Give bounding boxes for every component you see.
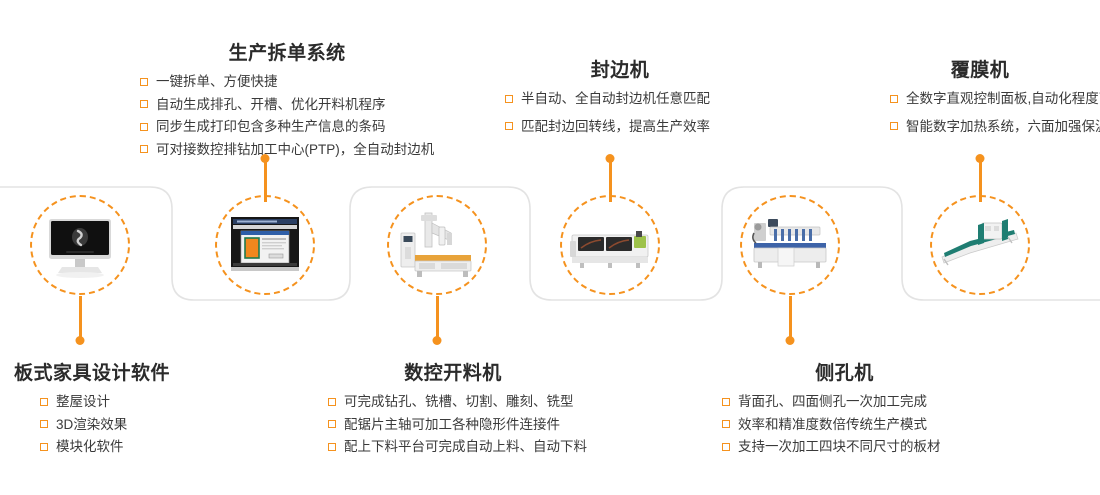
list-item-label: 支持一次加工四块不同尺寸的板材 [738,440,941,454]
cad-software-screen-icon [223,203,307,287]
section-title: 板式家具设计软件 [14,358,170,385]
list-item: 背面孔、四面侧孔一次加工完成 [722,395,967,409]
list-item: 效率和精准度数倍传统生产模式 [722,418,967,432]
list-item: 智能数字加热系统，六面加强保温 [890,120,1100,134]
list-item-label: 可对接数控排钻加工中心(PTP)，全自动封边机 [156,143,434,157]
section-design-software: 板式家具设计软件 整屋设计 3D渲染效果 模块化软件 [14,358,170,463]
connector-dot [433,336,442,345]
checkbox-icon [140,100,148,108]
list-item: 可完成钻孔、铣槽、切割、雕刻、铣型 [328,395,587,409]
list-item: 自动生成排孔、开槽、优化开料机程序 [140,98,434,112]
list-item-label: 模块化软件 [56,440,124,454]
cnc-router-icon [395,203,479,287]
checkbox-icon [328,398,336,406]
feature-list: 整屋设计 3D渲染效果 模块化软件 [14,395,170,454]
list-item-label: 同步生成打印包含多种生产信息的条码 [156,120,386,134]
checkbox-icon [722,443,730,451]
checkbox-icon [890,95,898,103]
list-item: 一键拆单、方便快捷 [140,75,434,89]
list-item: 匹配封边回转线，提高生产效率 [505,120,735,134]
feature-list: 可完成钻孔、铣槽、切割、雕刻、铣型 配锯片主轴可加工各种隐形件连接件 配上下料平… [328,395,587,454]
checkbox-icon [505,95,513,103]
list-item-label: 自动生成排孔、开槽、优化开料机程序 [156,98,386,112]
feature-list: 全数字直观控制面板,自动化程度高 智能数字加热系统，六面加强保温 [890,92,1100,133]
section-laminating-machine: 覆膜机 全数字直观控制面板,自动化程度高 智能数字加热系统，六面加强保温 [890,55,1100,147]
section-edge-banding-machine: 封边机 半自动、全自动封边机任意匹配 匹配封边回转线，提高生产效率 [505,55,735,147]
node-side[interactable] [740,195,840,295]
node-monitor[interactable] [30,195,130,295]
connector-dot [76,336,85,345]
section-title: 数控开料机 [328,358,578,385]
list-item: 配上下料平台可完成自动上料、自动下料 [328,440,587,454]
connector-node-cnc [436,296,439,341]
checkbox-icon [328,420,336,428]
section-title: 生产拆单系统 [140,38,434,65]
checkbox-icon [328,443,336,451]
list-item-label: 背面孔、四面侧孔一次加工完成 [738,395,927,409]
checkbox-icon [40,443,48,451]
list-item: 支持一次加工四块不同尺寸的板材 [722,440,967,454]
imac-monitor-icon [38,203,122,287]
section-split-order-system: 生产拆单系统 一键拆单、方便快捷 自动生成排孔、开槽、优化开料机程序 同步生成打… [140,38,434,165]
list-item-label: 匹配封边回转线，提高生产效率 [521,120,710,134]
checkbox-icon [722,398,730,406]
node-cnc[interactable] [387,195,487,295]
list-item-label: 全数字直观控制面板,自动化程度高 [906,92,1100,106]
section-cnc-cutting-machine: 数控开料机 可完成钻孔、铣槽、切割、雕刻、铣型 配锯片主轴可加工各种隐形件连接件… [328,358,587,463]
checkbox-icon [40,398,48,406]
list-item: 全数字直观控制面板,自动化程度高 [890,92,1100,106]
list-item-label: 配锯片主轴可加工各种隐形件连接件 [344,418,560,432]
list-item: 模块化软件 [40,440,170,454]
section-side-hole-machine: 侧孔机 背面孔、四面侧孔一次加工完成 效率和精准度数倍传统生产模式 支持一次加工… [722,358,967,463]
node-edge[interactable] [560,195,660,295]
list-item-label: 效率和精准度数倍传统生产模式 [738,418,927,432]
connector-dot [976,154,985,163]
section-title: 封边机 [505,55,735,82]
list-item: 整屋设计 [40,395,170,409]
list-item-label: 整屋设计 [56,395,110,409]
checkbox-icon [40,420,48,428]
checkbox-icon [140,145,148,153]
edge-bander-icon [568,203,652,287]
feature-list: 半自动、全自动封边机任意匹配 匹配封边回转线，提高生产效率 [505,92,735,133]
feature-list: 一键拆单、方便快捷 自动生成排孔、开槽、优化开料机程序 同步生成打印包含多种生产… [140,75,434,156]
connector-dot [786,336,795,345]
checkbox-icon [505,122,513,130]
list-item: 半自动、全自动封边机任意匹配 [505,92,735,106]
node-film[interactable] [930,195,1030,295]
checkbox-icon [722,420,730,428]
list-item-label: 可完成钻孔、铣槽、切割、雕刻、铣型 [344,395,574,409]
checkbox-icon [140,123,148,131]
feature-list: 背面孔、四面侧孔一次加工完成 效率和精准度数倍传统生产模式 支持一次加工四块不同… [722,395,967,454]
list-item-label: 3D渲染效果 [56,418,127,432]
list-item-label: 一键拆单、方便快捷 [156,75,278,89]
node-software[interactable] [215,195,315,295]
list-item-label: 配上下料平台可完成自动上料、自动下料 [344,440,587,454]
laminator-icon [938,203,1022,287]
connector-node-side [789,296,792,341]
list-item-label: 半自动、全自动封边机任意匹配 [521,92,710,106]
connector-node-monitor [79,296,82,341]
section-title: 覆膜机 [890,55,1070,82]
checkbox-icon [140,78,148,86]
list-item-label: 智能数字加热系统，六面加强保温 [906,120,1100,134]
list-item: 可对接数控排钻加工中心(PTP)，全自动封边机 [140,143,434,157]
checkbox-icon [890,122,898,130]
list-item: 配锯片主轴可加工各种隐形件连接件 [328,418,587,432]
section-title: 侧孔机 [722,358,967,385]
infographic-canvas: 生产拆单系统 一键拆单、方便快捷 自动生成排孔、开槽、优化开料机程序 同步生成打… [0,0,1100,495]
list-item: 3D渲染效果 [40,418,170,432]
connector-dot [606,154,615,163]
list-item: 同步生成打印包含多种生产信息的条码 [140,120,434,134]
side-drill-icon [748,203,832,287]
